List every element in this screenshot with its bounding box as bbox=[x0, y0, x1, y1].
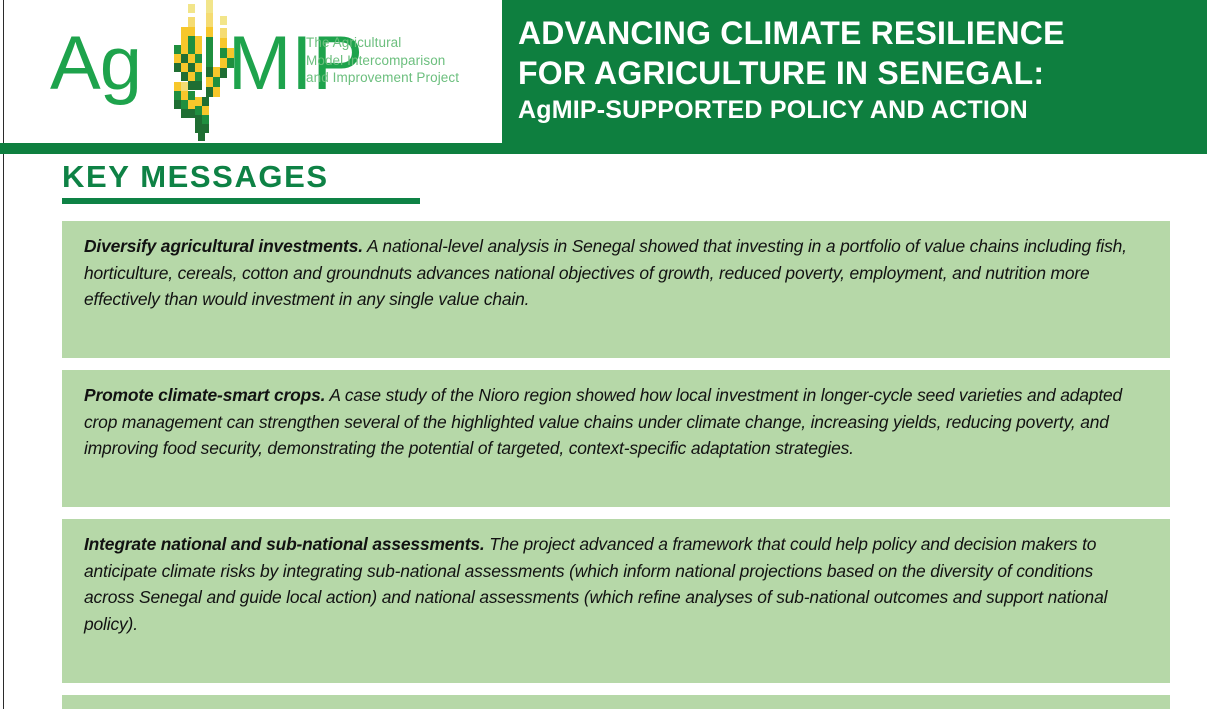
header-title: ADVANCING CLIMATE RESILIENCE FOR AGRICUL… bbox=[518, 13, 1207, 128]
logo-tagline: The Agricultural Model Intercomparison a… bbox=[306, 34, 459, 87]
page-title: KEY MESSAGES bbox=[62, 161, 329, 192]
key-message-box bbox=[62, 695, 1170, 709]
logo-panel: Ag bbox=[4, 0, 502, 143]
agmip-logo: Ag bbox=[50, 18, 500, 133]
document-page: Ag bbox=[0, 0, 1207, 709]
header-banner: Ag bbox=[4, 0, 1207, 143]
logo-wordmark-ag: Ag bbox=[50, 26, 141, 102]
header-title-line-1: ADVANCING CLIMATE RESILIENCE bbox=[518, 13, 1207, 53]
key-message-lead: Promote climate-smart crops. bbox=[84, 385, 325, 405]
key-message-box: Integrate national and sub-national asse… bbox=[62, 519, 1170, 683]
key-message-lead: Integrate national and sub-national asse… bbox=[84, 534, 485, 554]
page-title-underline bbox=[62, 198, 420, 204]
header-title-line-2: FOR AGRICULTURE IN SENEGAL: bbox=[518, 53, 1207, 93]
key-message-text: Diversify agricultural investments. A na… bbox=[84, 233, 1148, 313]
key-message-text: Promote climate-smart crops. A case stud… bbox=[84, 382, 1148, 462]
header-bottom-rule bbox=[0, 143, 1207, 154]
header-title-line-3: AgMIP-SUPPORTED POLICY AND ACTION bbox=[518, 93, 1207, 128]
key-message-box: Diversify agricultural investments. A na… bbox=[62, 221, 1170, 358]
key-message-box: Promote climate-smart crops. A case stud… bbox=[62, 370, 1170, 507]
key-message-text: Integrate national and sub-national asse… bbox=[84, 531, 1148, 637]
key-message-lead: Diversify agricultural investments. bbox=[84, 236, 363, 256]
